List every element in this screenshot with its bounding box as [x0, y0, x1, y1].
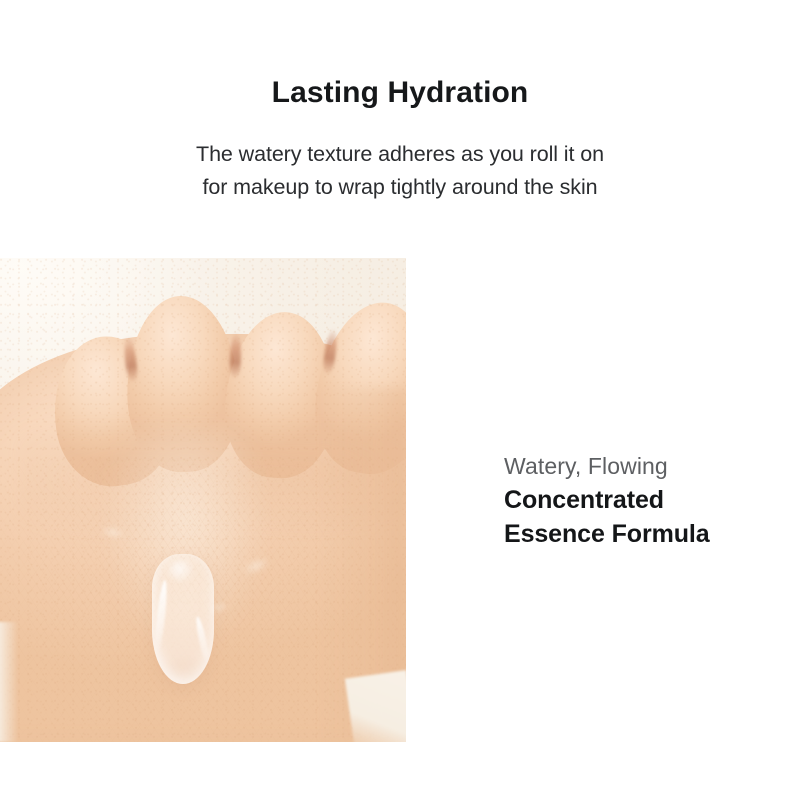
subtitle-block: The watery texture adheres as you roll i… — [0, 138, 800, 204]
product-caption: Watery, Flowing Concentrated Essence For… — [504, 450, 754, 551]
caption-line-bold-1: Concentrated — [504, 483, 754, 517]
product-photo — [0, 258, 406, 742]
knuckle-2 — [124, 294, 242, 474]
promo-page: Lasting Hydration The watery texture adh… — [0, 0, 800, 800]
page-title: Lasting Hydration — [0, 73, 800, 113]
subtitle-line-1: The watery texture adheres as you roll i… — [0, 138, 800, 171]
caption-line-light: Watery, Flowing — [504, 450, 754, 483]
droplet-highlight-right — [194, 616, 211, 664]
serum-droplet — [152, 554, 214, 684]
subtitle-line-2: for makeup to wrap tightly around the sk… — [0, 171, 800, 204]
droplet-highlight-left — [153, 580, 169, 654]
droplet-highlight-top — [168, 560, 196, 582]
caption-line-bold-2: Essence Formula — [504, 517, 754, 551]
